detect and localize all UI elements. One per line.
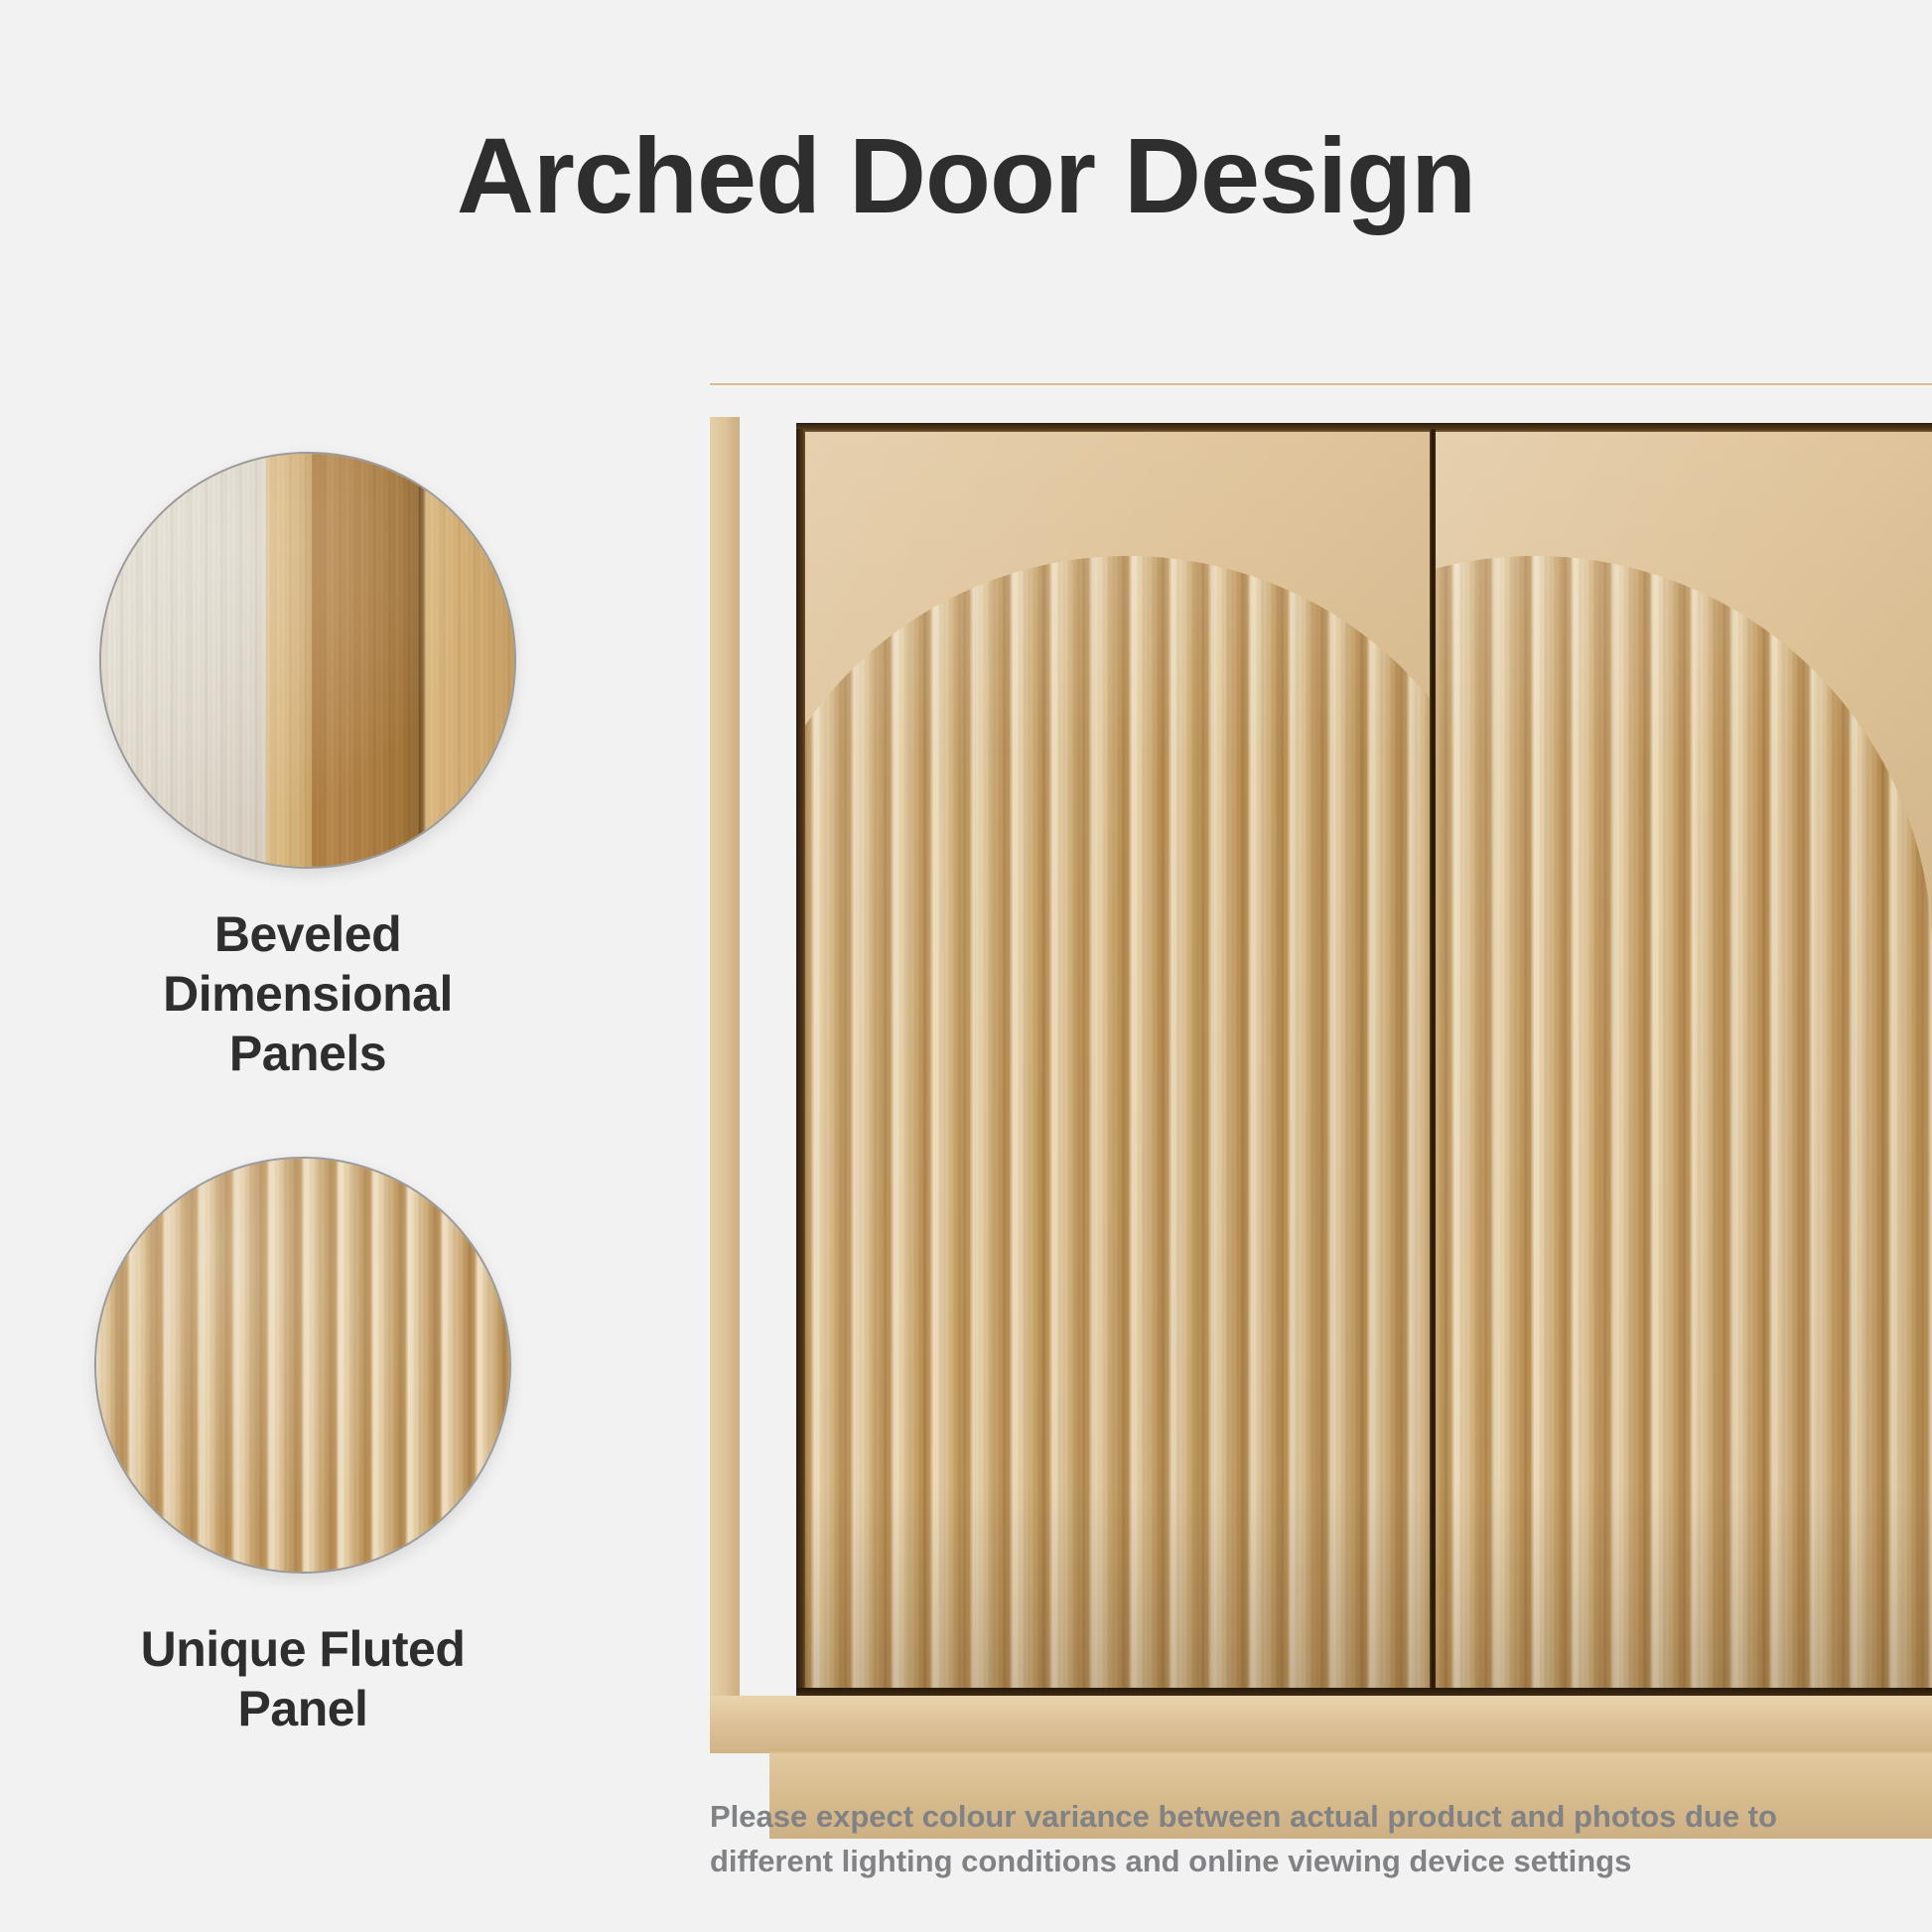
arched-fluted-panel-left xyxy=(805,556,1430,1688)
dark-wood-panel xyxy=(312,454,419,867)
fluted-ribs-texture xyxy=(96,1159,509,1572)
page-title: Arched Door Design xyxy=(0,119,1932,231)
cabinet-product-image xyxy=(710,383,1932,1745)
cabinet-door-right[interactable] xyxy=(1436,432,1932,1688)
beveled-panel-detail-image xyxy=(101,454,514,867)
disclaimer-line2: different lighting conditions and online… xyxy=(710,1840,1832,1884)
cabinet-top-rail xyxy=(710,383,1932,425)
fluted-ribs-texture xyxy=(805,556,1430,1688)
door-top-shadow-gap xyxy=(796,423,1932,432)
fluted-panel-detail-circle[interactable] xyxy=(94,1157,511,1574)
panel-bevel-seam xyxy=(419,454,426,867)
callout-unique-fluted-panel: Unique Fluted Panel xyxy=(94,1157,511,1738)
door-center-seam xyxy=(1430,429,1436,1692)
fluted-ribs-texture xyxy=(1436,556,1932,1688)
light-wood-strip xyxy=(266,454,312,867)
callout-fluted-label: Unique Fluted Panel xyxy=(74,1619,531,1738)
callout-beveled-label-line1: Beveled Dimensional xyxy=(163,906,453,1022)
fluted-panel-detail-image xyxy=(96,1159,509,1572)
beveled-panel-detail-circle[interactable] xyxy=(99,452,516,869)
door-left-shadow-gap xyxy=(796,429,805,1692)
door-bottom-shadow-gap xyxy=(796,1688,1932,1696)
callout-fluted-label-line1: Unique Fluted Panel xyxy=(141,1621,466,1736)
cabinet-door-left[interactable] xyxy=(805,432,1430,1688)
cabinet-left-side-panel xyxy=(740,425,796,1694)
arched-fluted-panel-right xyxy=(1436,556,1932,1688)
disclaimer-text: Please expect colour variance between ac… xyxy=(710,1795,1832,1884)
cabinet-bottom-rail xyxy=(710,1696,1932,1753)
cabinet-left-outer-edge xyxy=(710,417,740,1698)
callout-beveled-label-line2: Panels xyxy=(229,1026,386,1081)
callout-beveled-label: Beveled Dimensional Panels xyxy=(79,904,536,1083)
disclaimer-line1: Please expect colour variance between ac… xyxy=(710,1795,1832,1840)
wall-surface xyxy=(101,454,266,867)
medium-wood-panel xyxy=(426,454,514,867)
callout-beveled-dimensional-panels: Beveled Dimensional Panels xyxy=(99,452,516,1083)
